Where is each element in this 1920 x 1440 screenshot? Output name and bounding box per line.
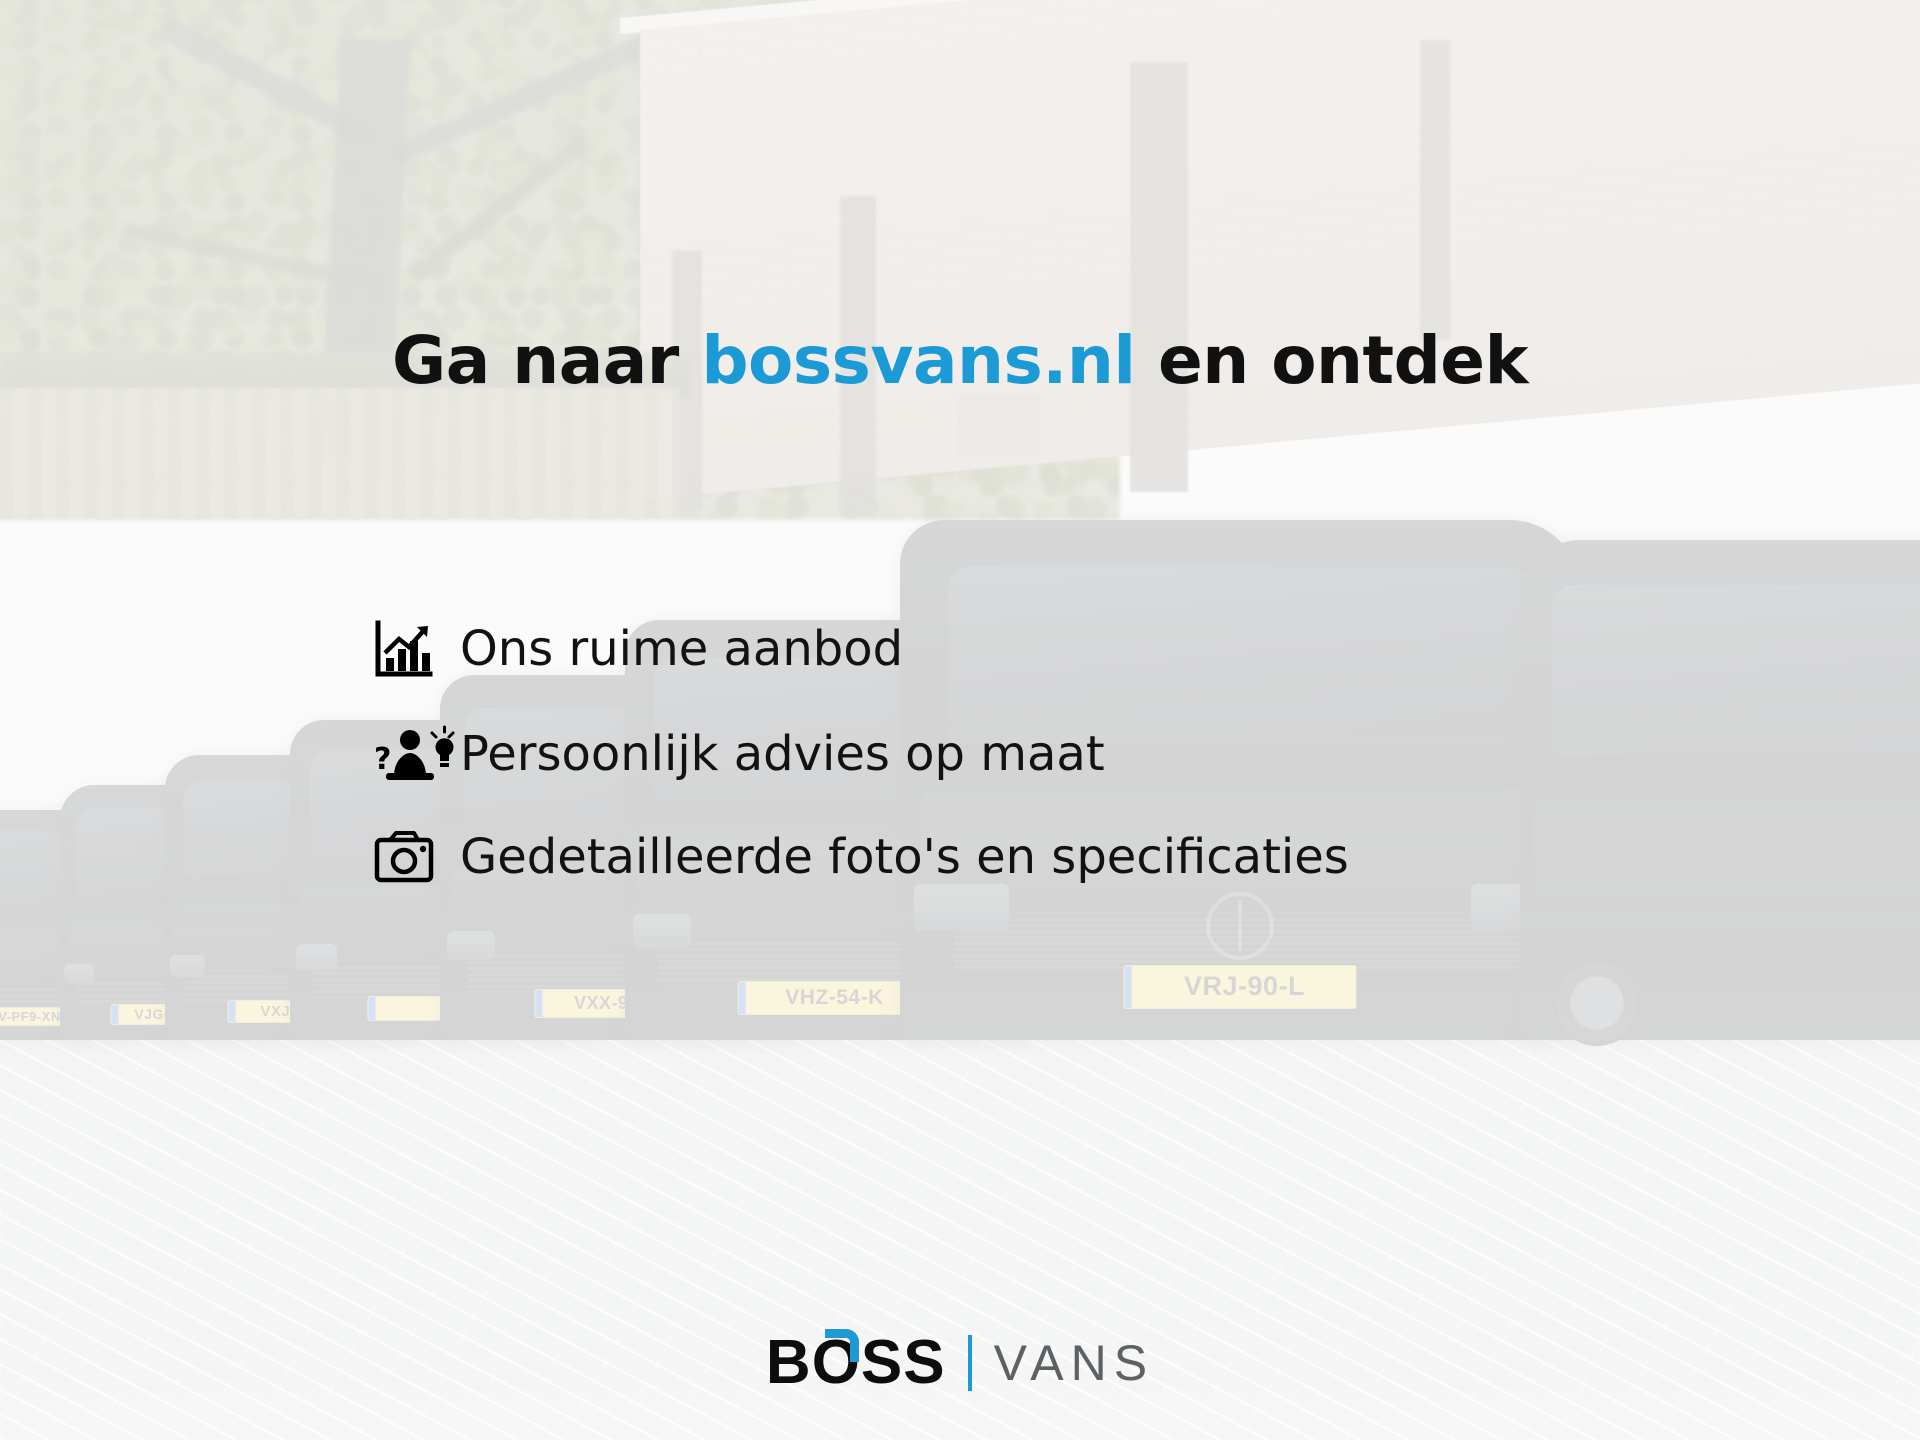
headline-link-text: bossvans.nl	[701, 322, 1135, 399]
headline-part-before: Ga naar	[392, 322, 701, 399]
marketing-slide: V-PF9-XN VJG-356-D VXJ-46-Z	[0, 0, 1920, 1440]
personal-advice-icon: ?	[374, 725, 460, 783]
logo-letters-ss: SS	[861, 1327, 946, 1398]
logo-letter-b: B	[766, 1327, 812, 1398]
logo-letter-o-text: O	[812, 1328, 861, 1397]
camera-icon	[374, 830, 460, 884]
list-item-label: Gedetailleerde foto's en specificaties	[460, 831, 1349, 884]
benefits-list: Ons ruime aanbod ? Persoonlijk advies op…	[374, 620, 1349, 884]
logo-letter-o: O	[812, 1327, 861, 1398]
list-item-label: Persoonlijk advies op maat	[460, 728, 1105, 781]
svg-text:?: ?	[374, 742, 391, 777]
logo-divider	[968, 1335, 972, 1391]
list-item-label: Ons ruime aanbod	[460, 623, 903, 676]
logo-boss-wordmark: BOSS	[766, 1327, 946, 1398]
list-item: Gedetailleerde foto's en specificaties	[374, 830, 1349, 884]
brand-logo: BOSS VANS	[0, 1327, 1920, 1398]
slide-content: Ga naar bossvans.nl en ontdek Ons ruime …	[0, 0, 1920, 1440]
page-title: Ga naar bossvans.nl en ontdek	[0, 326, 1920, 395]
list-item: ? Persoonlijk advies op maat	[374, 725, 1349, 783]
list-item: Ons ruime aanbod	[374, 620, 1349, 678]
bar-chart-growth-icon	[374, 620, 460, 678]
headline-part-after: en ontdek	[1135, 322, 1527, 399]
logo-vans-wordmark: VANS	[994, 1334, 1154, 1392]
